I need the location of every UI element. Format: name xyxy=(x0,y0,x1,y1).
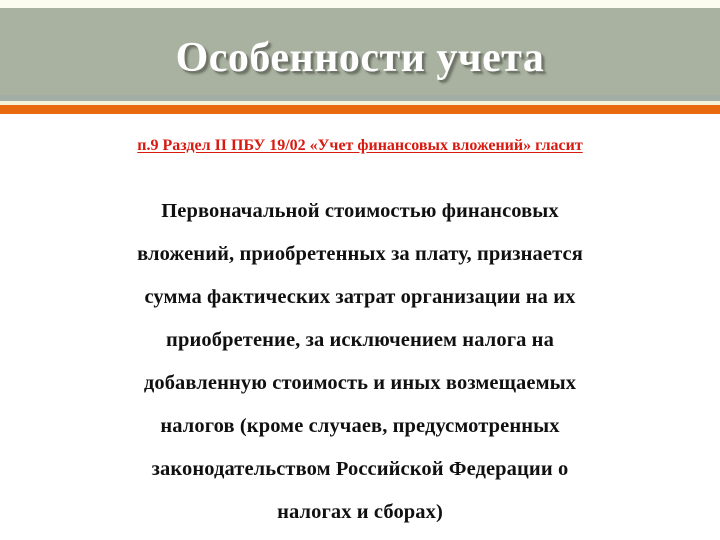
slide: Особенности учета п.9 Раздел II ПБУ 19/0… xyxy=(0,0,720,540)
body-line: законодательством Российской Федерации о xyxy=(40,448,680,491)
body-line: налогах и сборах) xyxy=(40,491,680,534)
body-line: вложений, приобретенных за плату, призна… xyxy=(40,233,680,276)
body-line: приобретение, за исключением налога на xyxy=(40,319,680,362)
slide-header-banner: Особенности учета xyxy=(0,0,720,113)
header-top-cream-band xyxy=(0,0,720,8)
body-line: налогов (кроме случаев, предусмотренных xyxy=(40,405,680,448)
slide-subtitle-citation: п.9 Раздел II ПБУ 19/02 «Учет финансовых… xyxy=(0,136,720,156)
header-orange-rule xyxy=(0,105,720,114)
body-line: сумма фактических затрат организации на … xyxy=(40,276,680,319)
body-line: Первоначальной стоимостью финансовых xyxy=(40,190,680,233)
body-line: добавленную стоимость и иных возмещаемых xyxy=(40,362,680,405)
slide-title: Особенности учета xyxy=(0,35,720,81)
slide-body-text: Первоначальной стоимостью финансовых вло… xyxy=(40,190,680,534)
